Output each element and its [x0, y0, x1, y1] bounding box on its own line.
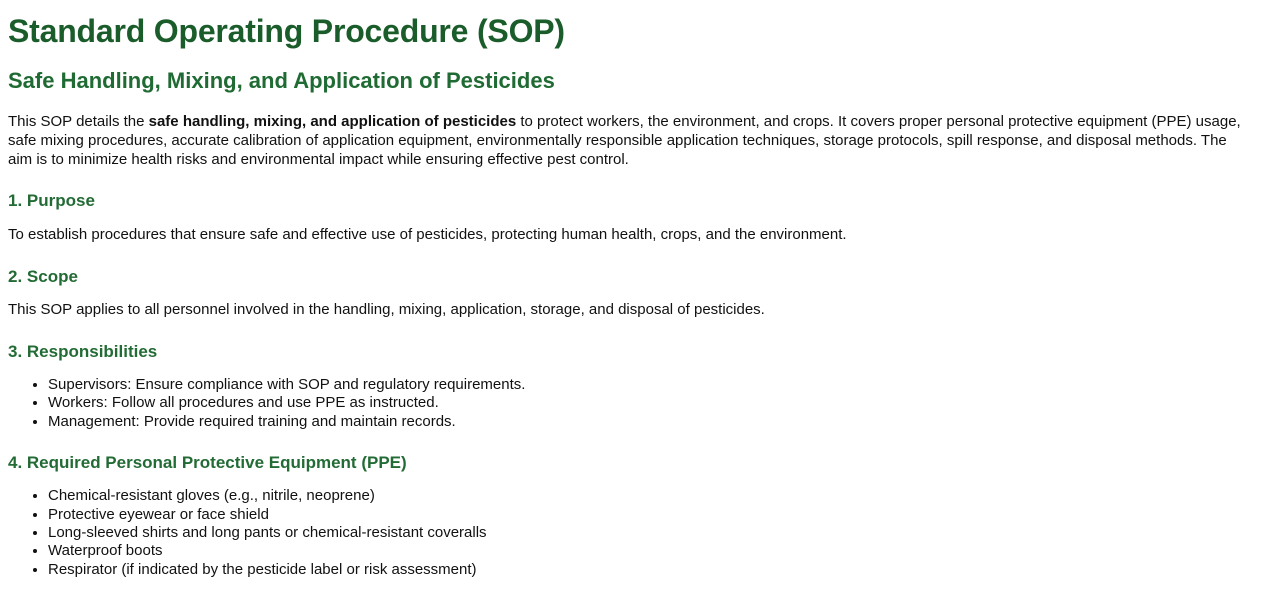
list-item: Long-sleeved shirts and long pants or ch…: [48, 524, 1255, 542]
list-item: Workers: Follow all procedures and use P…: [48, 394, 1255, 412]
section-heading-purpose: 1. Purpose: [8, 191, 1255, 211]
intro-lead-text: This SOP details the: [8, 113, 149, 130]
section-scope: 2. Scope This SOP applies to all personn…: [8, 267, 1255, 320]
section-heading-ppe: 4. Required Personal Protective Equipmen…: [8, 453, 1255, 473]
section-paragraph-purpose: To establish procedures that ensure safe…: [8, 226, 1255, 245]
list-item: Waterproof boots: [48, 542, 1255, 560]
list-item: Chemical-resistant gloves (e.g., nitrile…: [48, 487, 1255, 505]
document-page: Standard Operating Procedure (SOP) Safe …: [0, 14, 1263, 579]
list-item: Respirator (if indicated by the pesticid…: [48, 561, 1255, 579]
section-ppe: 4. Required Personal Protective Equipmen…: [8, 453, 1255, 579]
list-item: Management: Provide required training an…: [48, 413, 1255, 431]
responsibilities-list: Supervisors: Ensure compliance with SOP …: [8, 376, 1255, 431]
intro-paragraph: This SOP details the safe handling, mixi…: [8, 113, 1255, 169]
intro-emphasis-text: safe handling, mixing, and application o…: [149, 113, 517, 130]
section-purpose: 1. Purpose To establish procedures that …: [8, 191, 1255, 244]
section-responsibilities: 3. Responsibilities Supervisors: Ensure …: [8, 342, 1255, 431]
page-title: Standard Operating Procedure (SOP): [8, 14, 1255, 50]
document-subtitle: Safe Handling, Mixing, and Application o…: [8, 68, 1255, 93]
ppe-list: Chemical-resistant gloves (e.g., nitrile…: [8, 487, 1255, 578]
list-item: Protective eyewear or face shield: [48, 506, 1255, 524]
section-paragraph-scope: This SOP applies to all personnel involv…: [8, 301, 1255, 320]
list-item: Supervisors: Ensure compliance with SOP …: [48, 376, 1255, 394]
section-heading-responsibilities: 3. Responsibilities: [8, 342, 1255, 362]
section-heading-scope: 2. Scope: [8, 267, 1255, 287]
